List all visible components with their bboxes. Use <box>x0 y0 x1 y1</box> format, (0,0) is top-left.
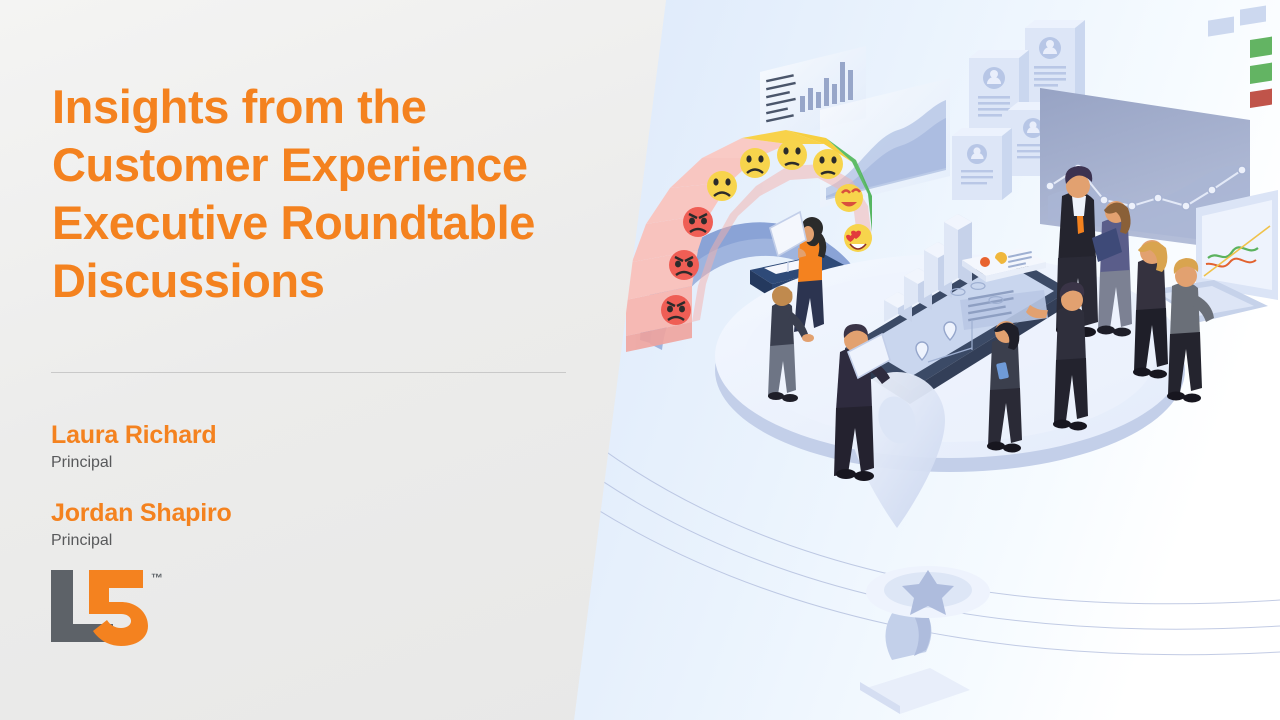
laptop-line-orange <box>1206 259 1256 267</box>
floating-area-chart-panel <box>820 78 950 208</box>
emoji-sad <box>707 171 737 201</box>
presenter-name: Jordan Shapiro <box>51 498 471 528</box>
emoji-happy <box>835 184 863 212</box>
profile-card <box>969 50 1029 138</box>
tablet-held <box>848 334 890 378</box>
platform-base <box>715 268 1185 472</box>
location-pin <box>849 372 945 528</box>
tablet-screen <box>862 262 1054 376</box>
profile-card <box>1008 102 1068 176</box>
presentation-slide: Insights from the Customer Experience Ex… <box>0 0 1280 720</box>
floating-bar-chart-panel <box>760 46 866 144</box>
presenter-list: Laura Richard Principal Jordan Shapiro P… <box>51 420 471 576</box>
gauge-segment-happy <box>826 138 868 194</box>
central-platform <box>715 254 1185 472</box>
person-woman-folder <box>1092 201 1132 337</box>
laptop-widgets <box>1208 5 1272 108</box>
presenter-item: Jordan Shapiro Principal <box>51 498 471 552</box>
person-woman-blonde <box>1133 240 1168 379</box>
gauge-emojis <box>661 140 872 325</box>
tablet-measure-lines <box>928 320 972 362</box>
profile-card <box>952 128 1012 200</box>
emoji-neutral <box>777 140 807 170</box>
trophy-star-icon <box>902 570 954 615</box>
profile-avatar-icon <box>967 144 987 164</box>
title-line-2: Customer Experience <box>52 136 612 194</box>
tablet-map-pins <box>916 322 956 360</box>
trophy-base <box>860 668 970 714</box>
person-woman-phone <box>987 321 1022 453</box>
folder <box>1092 228 1122 262</box>
smartphone <box>996 362 1009 380</box>
divider <box>51 372 566 373</box>
title-line-3: Executive Roundtable <box>52 194 612 252</box>
trophy-ring <box>866 566 990 618</box>
logo-trademark-text: ™ <box>151 571 163 585</box>
orbit-arcs <box>582 440 1280 655</box>
gauge-segment-neutral <box>742 130 824 144</box>
laptop-line-green <box>1208 247 1258 258</box>
profile-avatar-icon <box>1039 37 1061 59</box>
profile-card <box>1025 20 1085 108</box>
title-line-4: Discussions <box>52 252 612 310</box>
trophy-star <box>860 566 990 714</box>
logo-digit-5-shape <box>89 570 148 646</box>
area-chart-shape <box>826 100 946 198</box>
presenter-name: Laura Richard <box>51 420 471 450</box>
title-line-1: Insights from the <box>52 78 612 136</box>
emoji-angry <box>683 207 713 237</box>
tablet-nodes <box>951 283 1003 304</box>
emoji-neutral <box>813 149 843 179</box>
laptop-keyboard <box>1150 280 1268 322</box>
tablet-held <box>770 212 806 256</box>
trophy-cup <box>885 602 931 660</box>
panel-bar-chart <box>800 62 853 112</box>
necktie <box>1076 200 1084 234</box>
reception-desk <box>750 254 846 298</box>
emoji-heart-eyes <box>844 224 872 252</box>
panel-text-lines <box>766 74 796 122</box>
screen-line-series <box>1050 168 1242 206</box>
left-content-panel: Insights from the Customer Experience Ex… <box>0 0 680 720</box>
tablet-text-lines <box>968 290 1014 321</box>
presenter-role: Principal <box>51 530 471 552</box>
bar-chart-3d <box>884 214 972 322</box>
person-man-suit-tablet <box>834 324 890 481</box>
screen-area-chart <box>1048 166 1250 246</box>
presentation-screen-line-chart <box>1040 88 1250 252</box>
emoji-sad <box>740 148 770 178</box>
presenter-item: Laura Richard Principal <box>51 420 471 474</box>
person-woman-left <box>768 286 814 402</box>
person-man-darksuit-mid <box>1026 282 1088 431</box>
l5-logo: ™ <box>47 566 187 646</box>
giant-tablet-dashboard <box>845 214 1070 404</box>
page-title: Insights from the Customer Experience Ex… <box>52 78 612 310</box>
profile-avatar-icon <box>1023 118 1043 138</box>
profile-cards <box>952 20 1085 200</box>
desk-paper <box>764 260 812 274</box>
person-woman-orange-tablet <box>770 212 826 332</box>
person-man-orange-tie <box>1056 166 1098 337</box>
screen-data-points <box>1046 164 1246 210</box>
report-documents <box>962 248 1046 282</box>
platform-top <box>715 254 1185 458</box>
laptop-dashboard <box>1150 5 1278 322</box>
presenter-role: Principal <box>51 452 471 474</box>
person-man-gray-right <box>1167 258 1214 403</box>
profile-avatar-icon <box>983 67 1005 89</box>
